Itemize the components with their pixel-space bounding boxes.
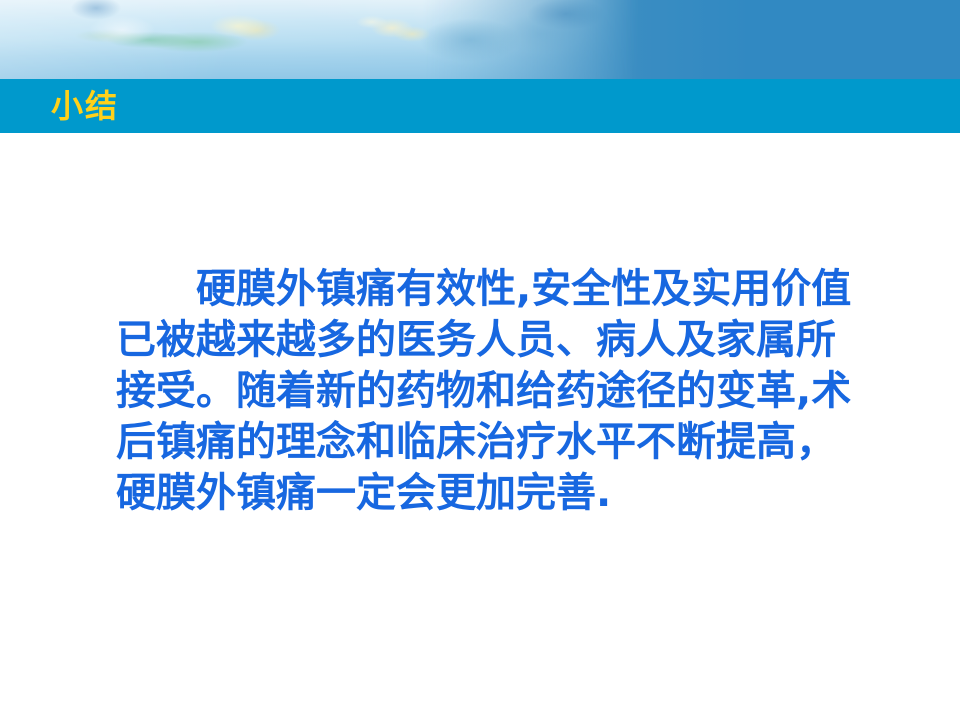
summary-paragraph: 硬膜外镇痛有效性,安全性及实用价值 已被越来越多的医务人员、病人及家属所 接受。…: [116, 264, 906, 519]
operating-room-photo-image: [0, 0, 640, 80]
slide-title: 小结: [51, 90, 119, 122]
slide-body: 硬膜外镇痛有效性,安全性及实用价值 已被越来越多的医务人员、病人及家属所 接受。…: [0, 133, 960, 720]
slide-title-bar: 小结: [0, 79, 960, 133]
presentation-slide: 小结 硬膜外镇痛有效性,安全性及实用价值 已被越来越多的医务人员、病人及家属所 …: [0, 0, 960, 720]
header-banner: [0, 0, 960, 80]
